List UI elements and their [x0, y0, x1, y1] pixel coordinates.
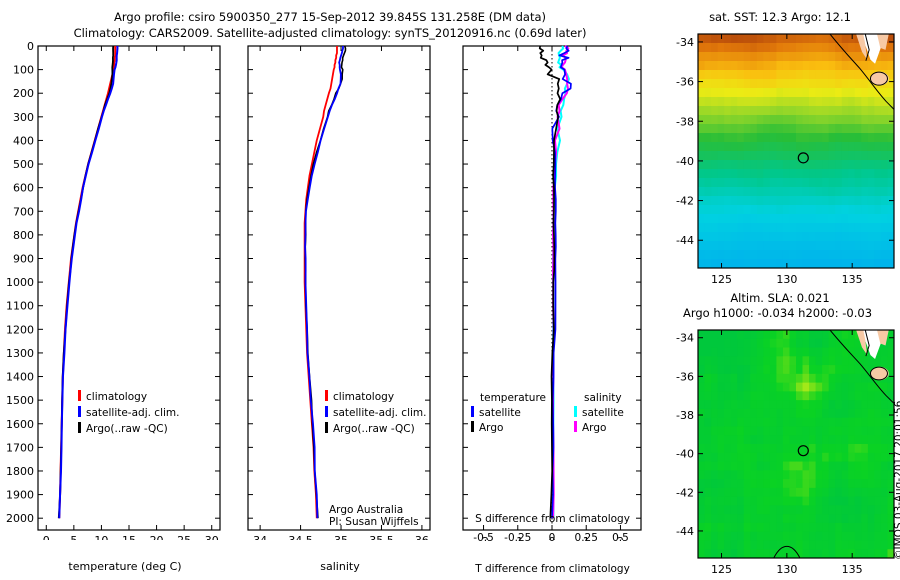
difference-xaxis-label-bottom: T difference from climatology [455, 563, 650, 575]
svg-text:30: 30 [205, 534, 219, 540]
svg-text:25: 25 [177, 534, 191, 540]
salinity-legend-box: climatology satellite-adj. clim. Argo(..… [325, 390, 426, 435]
svg-text:125: 125 [711, 273, 732, 286]
difference-legend: temperature salinity satellite satellite… [470, 392, 625, 435]
legend-swatch-satellite [325, 406, 328, 417]
salinity-xaxis-label: salinity [245, 560, 435, 573]
svg-text:-36: -36 [676, 370, 694, 383]
legend-item-argo: Argo(..raw -QC) [78, 422, 179, 435]
svg-text:2000: 2000 [6, 512, 34, 525]
svg-text:-44: -44 [676, 525, 694, 538]
sst-map: 125130135-34-36-38-40-42-44 [660, 28, 900, 290]
salinity-panel: 3434.53535.536 [240, 40, 440, 540]
legend-swatch-s-satellite [574, 406, 577, 417]
svg-text:300: 300 [13, 111, 34, 124]
legend-item-argo: Argo(..raw -QC) [325, 422, 426, 435]
legend-swatch-climatology [78, 390, 81, 401]
legend-swatch-argo [325, 422, 328, 433]
credit-label: ©IMOS 03-Aug-2017 20:01:56 [893, 401, 900, 560]
svg-text:130: 130 [776, 273, 797, 286]
svg-text:36: 36 [415, 534, 429, 540]
svg-text:1900: 1900 [6, 489, 34, 502]
svg-text:20: 20 [150, 534, 164, 540]
legend-item-t-satellite: satellite [470, 405, 546, 420]
sla-map-title-line2: Argo h1000: -0.034 h2000: -0.03 [655, 306, 900, 320]
svg-text:35: 35 [334, 534, 348, 540]
svg-text:-34: -34 [676, 332, 694, 345]
legend-swatch-t-argo [471, 421, 474, 432]
svg-text:400: 400 [13, 134, 34, 147]
temperature-legend: climatology satellite-adj. clim. Argo(..… [78, 390, 179, 435]
credit-text: ©IMOS 03-Aug-2017 20:01:56 [893, 560, 900, 572]
figure-title-line2: Climatology: CARS2009. Satellite-adjuste… [0, 26, 660, 40]
legend-item-satellite: satellite-adj. clim. [325, 406, 426, 419]
legend-item-climatology: climatology [325, 390, 426, 403]
temperature-panel: 0510152025300100200300400500600700800900… [0, 40, 230, 540]
sst-map-title: sat. SST: 12.3 Argo: 12.1 [660, 10, 900, 24]
svg-text:130: 130 [776, 563, 797, 576]
svg-text:1200: 1200 [6, 323, 34, 336]
svg-text:10: 10 [94, 534, 108, 540]
svg-text:1300: 1300 [6, 347, 34, 360]
legend-swatch-satellite [78, 406, 81, 417]
sla-map-title-line1: Altim. SLA: 0.021 [660, 291, 900, 305]
difference-xaxis-label-top: S difference from climatology [455, 513, 650, 525]
svg-text:1500: 1500 [6, 394, 34, 407]
svg-text:34: 34 [253, 534, 267, 540]
svg-text:1100: 1100 [6, 300, 34, 313]
legend-swatch-t-satellite [471, 406, 474, 417]
svg-text:135: 135 [842, 563, 863, 576]
svg-text:1700: 1700 [6, 441, 34, 454]
svg-text:125: 125 [711, 563, 732, 576]
legend-swatch-s-argo [574, 421, 577, 432]
svg-text:135: 135 [842, 273, 863, 286]
legend-item-climatology: climatology [78, 390, 179, 403]
svg-text:-44: -44 [676, 234, 694, 247]
svg-text:-34: -34 [676, 36, 694, 49]
svg-text:-36: -36 [676, 76, 694, 89]
svg-text:1400: 1400 [6, 371, 34, 384]
svg-text:-38: -38 [676, 115, 694, 128]
legend-group-salinity: salinity [546, 392, 625, 405]
legend-swatch-argo [78, 422, 81, 433]
svg-text:600: 600 [13, 182, 34, 195]
svg-text:700: 700 [13, 205, 34, 218]
svg-text:0: 0 [27, 40, 34, 53]
svg-text:1000: 1000 [6, 276, 34, 289]
temperature-xaxis-label: temperature (deg C) [30, 560, 220, 573]
legend-item-s-satellite: satellite [546, 405, 625, 420]
svg-text:900: 900 [13, 252, 34, 265]
svg-text:-40: -40 [676, 155, 694, 168]
svg-text:200: 200 [13, 87, 34, 100]
legend-swatch-climatology [325, 390, 328, 401]
svg-text:15: 15 [122, 534, 136, 540]
svg-text:500: 500 [13, 158, 34, 171]
legend-item-s-argo: Argo [546, 420, 625, 435]
difference-top-tick-label: 0.5 [600, 532, 640, 544]
salinity-annotation: Argo Australia PI: Susan Wijffels [329, 504, 419, 528]
svg-text:35.5: 35.5 [369, 534, 394, 540]
svg-text:0: 0 [43, 534, 50, 540]
svg-text:100: 100 [13, 64, 34, 77]
svg-text:34.5: 34.5 [288, 534, 313, 540]
difference-panel: -2-1012 -0.5-0.2500.250.5 [455, 40, 650, 540]
figure-root: Argo profile: csiro 5900350_277 15-Sep-2… [0, 0, 900, 580]
svg-text:800: 800 [13, 229, 34, 242]
svg-text:-38: -38 [676, 409, 694, 422]
difference-legend-table: temperature salinity satellite satellite… [470, 392, 625, 435]
annotation-line2: PI: Susan Wijffels [329, 516, 419, 528]
svg-text:5: 5 [70, 534, 77, 540]
svg-text:1600: 1600 [6, 418, 34, 431]
annotation-line1: Argo Australia [329, 504, 419, 516]
svg-text:-42: -42 [676, 195, 694, 208]
sla-map: 125130135-34-36-38-40-42-44 [660, 324, 900, 580]
legend-item-t-argo: Argo [470, 420, 546, 435]
svg-text:-42: -42 [676, 486, 694, 499]
legend-group-temperature: temperature [470, 392, 546, 405]
legend-item-satellite: satellite-adj. clim. [78, 406, 179, 419]
svg-text:1800: 1800 [6, 465, 34, 478]
figure-title-line1: Argo profile: csiro 5900350_277 15-Sep-2… [0, 10, 660, 24]
svg-text:-40: -40 [676, 448, 694, 461]
